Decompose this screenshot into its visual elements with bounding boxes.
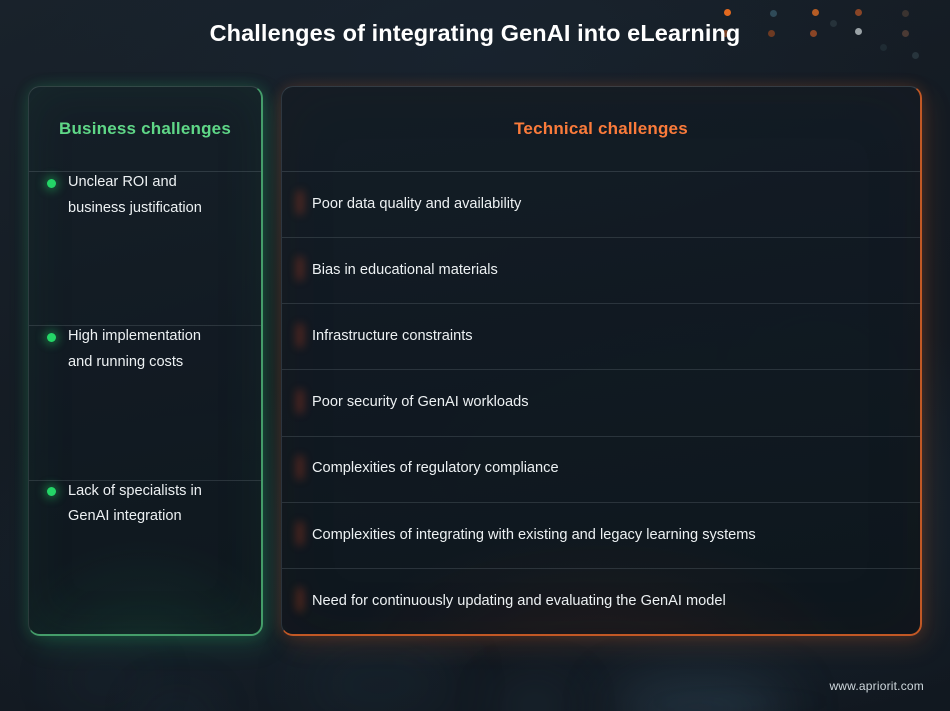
list-item-content: Complexities of integrating with existin… bbox=[300, 523, 756, 549]
list-item-content: Complexities of regulatory compliance bbox=[300, 456, 559, 482]
list-item-label: Bias in educational materials bbox=[312, 262, 498, 278]
list-item: Infrastructure constraints bbox=[282, 304, 920, 370]
list-item-content: Bias in educational materials bbox=[300, 258, 498, 284]
bullet-icon bbox=[47, 487, 56, 496]
technical-challenges-list: Poor data quality and availabilityBias i… bbox=[282, 172, 920, 634]
bullet-icon bbox=[47, 179, 56, 188]
business-challenges-card: Business challenges Unclear ROI and busi… bbox=[28, 86, 263, 636]
challenges-board: Business challenges Unclear ROI and busi… bbox=[28, 86, 922, 636]
business-challenges-list: Unclear ROI and business justificationHi… bbox=[29, 172, 261, 634]
list-item-content: Poor data quality and availability bbox=[300, 192, 521, 218]
list-item-content: Need for continuously updating and evalu… bbox=[300, 589, 726, 615]
list-item-label: High implementation and running costs bbox=[68, 324, 228, 375]
list-item-label: Need for continuously updating and evalu… bbox=[312, 593, 726, 609]
list-item: Poor data quality and availability bbox=[282, 172, 920, 238]
list-item: Lack of specialists in GenAI integration bbox=[29, 481, 261, 634]
business-challenges-heading: Business challenges bbox=[29, 87, 261, 172]
list-item-label: Unclear ROI and business justification bbox=[68, 170, 228, 221]
list-item-label: Complexities of integrating with existin… bbox=[312, 527, 756, 543]
list-item-label: Poor data quality and availability bbox=[312, 196, 521, 212]
list-item-content: Infrastructure constraints bbox=[300, 324, 473, 350]
list-item: Complexities of regulatory compliance bbox=[282, 437, 920, 503]
bullet-icon bbox=[47, 333, 56, 342]
list-item-content: Lack of specialists in GenAI integration bbox=[47, 479, 228, 530]
list-item-label: Poor security of GenAI workloads bbox=[312, 394, 529, 410]
list-item-content: High implementation and running costs bbox=[47, 324, 228, 375]
list-item-content: Poor security of GenAI workloads bbox=[300, 390, 529, 416]
list-item-label: Infrastructure constraints bbox=[312, 328, 473, 344]
list-item: High implementation and running costs bbox=[29, 326, 261, 480]
list-item-label: Complexities of regulatory compliance bbox=[312, 460, 559, 476]
list-item: Complexities of integrating with existin… bbox=[282, 503, 920, 569]
technical-challenges-heading: Technical challenges bbox=[282, 87, 920, 172]
list-item: Unclear ROI and business justification bbox=[29, 172, 261, 326]
footer-watermark: www.apriorit.com bbox=[829, 679, 924, 693]
list-item: Poor security of GenAI workloads bbox=[282, 370, 920, 436]
list-item: Need for continuously updating and evalu… bbox=[282, 569, 920, 634]
list-item-content: Unclear ROI and business justification bbox=[47, 170, 228, 221]
list-item-label: Lack of specialists in GenAI integration bbox=[68, 479, 228, 530]
technical-challenges-card: Technical challenges Poor data quality a… bbox=[281, 86, 922, 636]
page-title: Challenges of integrating GenAI into eLe… bbox=[0, 20, 950, 47]
list-item: Bias in educational materials bbox=[282, 238, 920, 304]
